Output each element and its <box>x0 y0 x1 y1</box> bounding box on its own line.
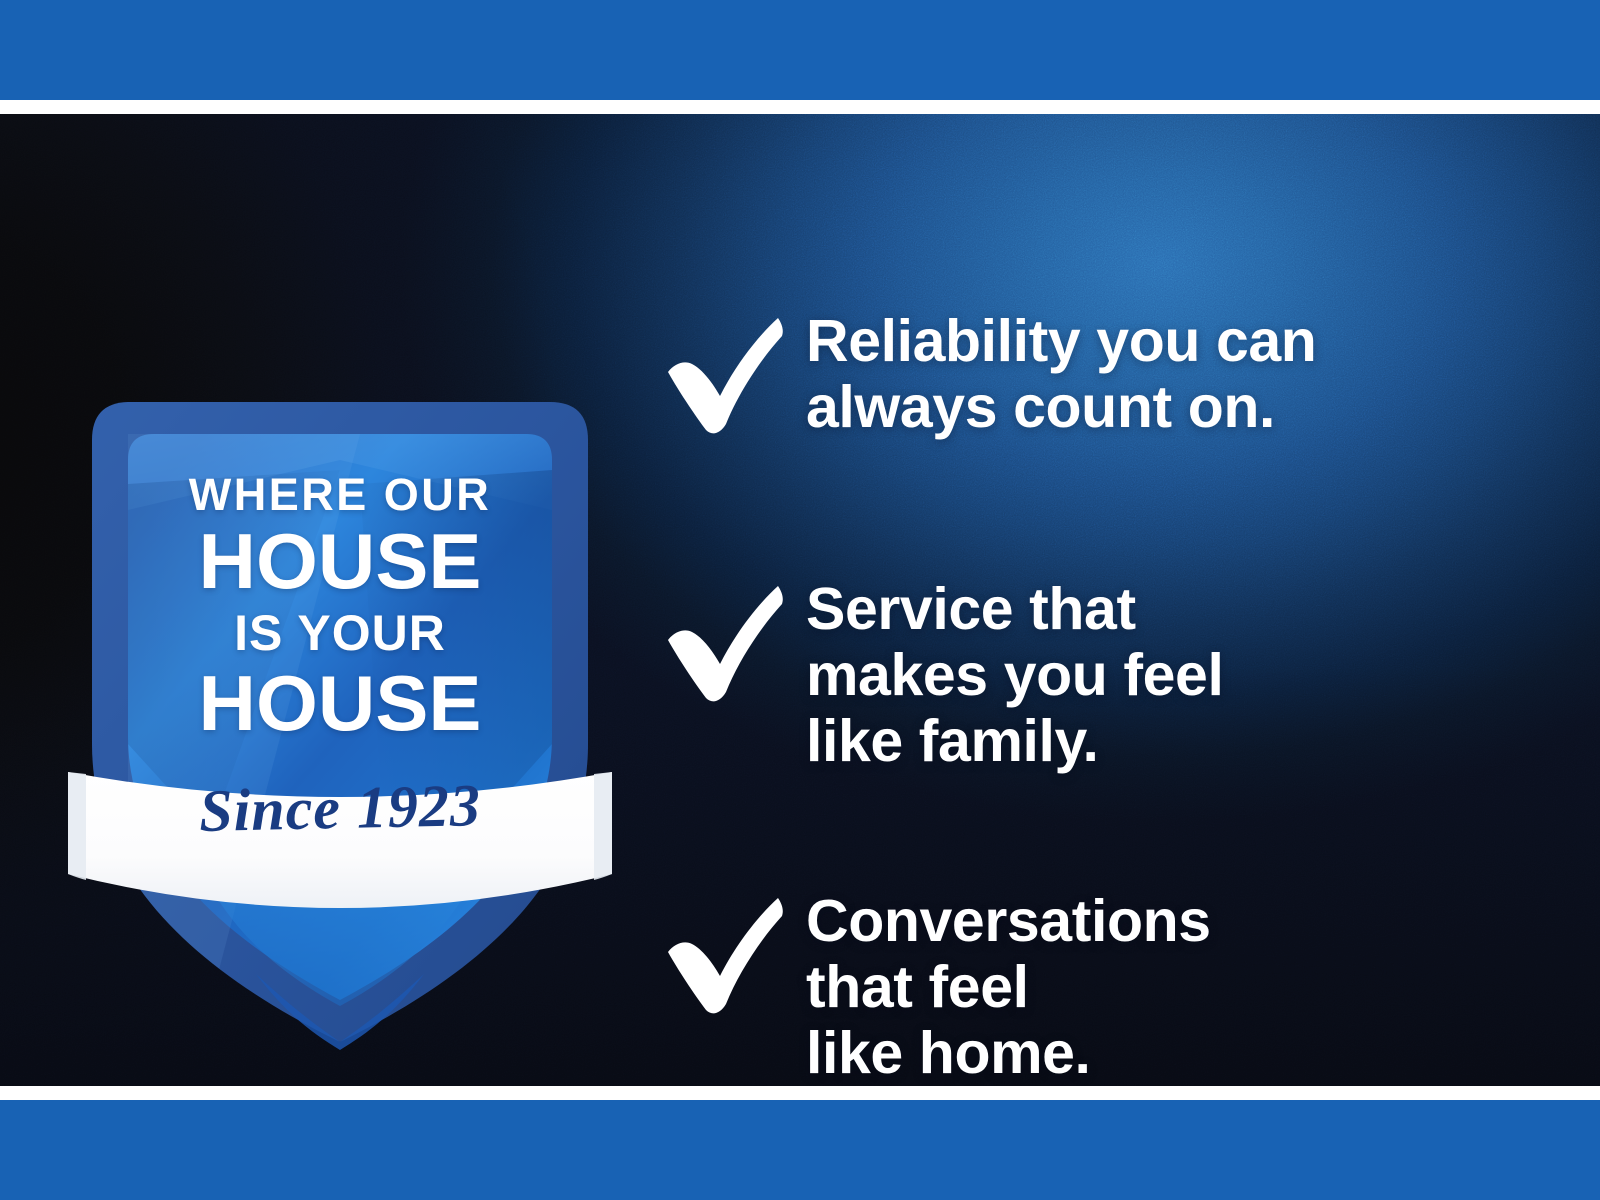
list-item: Conversations that feel like home. <box>660 884 1520 1086</box>
list-item-label: Conversations that feel like home. <box>806 884 1211 1086</box>
top-white-divider <box>0 100 1600 114</box>
checkmark-icon <box>660 310 790 440</box>
ribbon-fold-left <box>68 772 86 880</box>
promo-graphic: WHERE OUR HOUSE IS YOUR HOUSE Since 1923… <box>0 0 1600 1200</box>
main-stage: WHERE OUR HOUSE IS YOUR HOUSE Since 1923… <box>0 114 1600 1086</box>
list-item-label: Service that makes you feel like family. <box>806 572 1223 774</box>
bottom-brand-bar <box>0 1100 1600 1200</box>
list-item: Reliability you can always count on. <box>660 304 1520 440</box>
bottom-white-divider <box>0 1086 1600 1100</box>
list-item: Service that makes you feel like family. <box>660 572 1520 774</box>
ribbon-fold-right <box>594 772 612 880</box>
top-brand-bar <box>0 0 1600 100</box>
checkmark-icon <box>660 890 790 1020</box>
checkmark-icon <box>660 578 790 708</box>
list-item-label: Reliability you can always count on. <box>806 304 1316 440</box>
shield-badge: WHERE OUR HOUSE IS YOUR HOUSE Since 1923 <box>60 274 620 1064</box>
